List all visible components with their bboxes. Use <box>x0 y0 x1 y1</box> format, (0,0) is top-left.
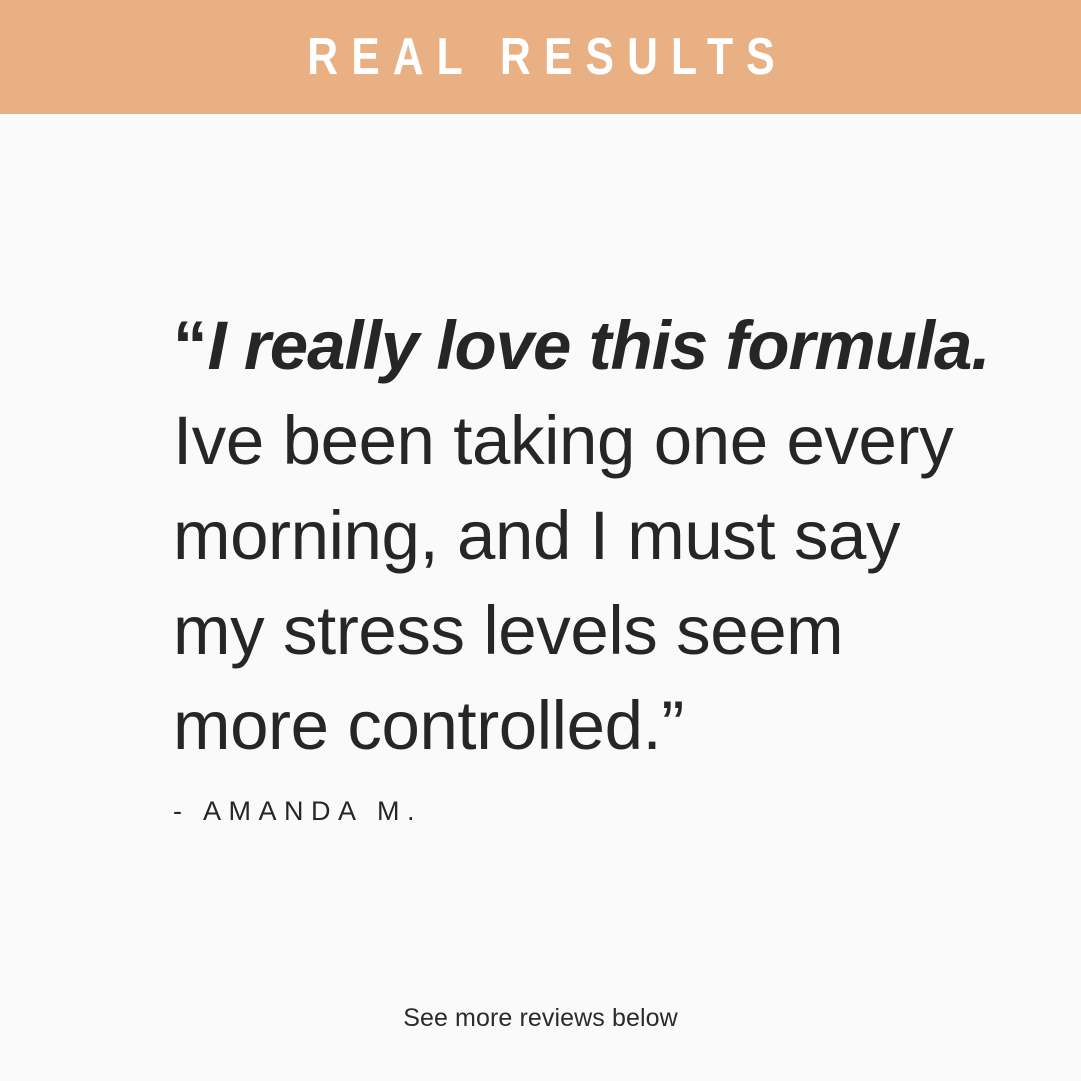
open-quote-mark: “ <box>173 298 208 393</box>
quote-line-text: Ive been taking one every <box>173 402 953 479</box>
quote-line: more controlled.” <box>173 678 1013 773</box>
quote-line-text: more controlled. <box>173 687 661 764</box>
quote-line-text: my stress levels seem <box>173 592 843 669</box>
testimonial-card: REAL RESULTS “I really love this formula… <box>0 0 1081 1081</box>
testimonial-quote: “I really love this formula. Ive been ta… <box>173 298 1013 773</box>
quote-line: “I really love this formula. <box>173 298 1013 393</box>
header-banner: REAL RESULTS <box>0 0 1081 114</box>
quote-line: morning, and I must say <box>173 488 1013 583</box>
quote-line: my stress levels seem <box>173 583 1013 678</box>
close-quote-mark: ” <box>661 687 684 764</box>
quote-line-text: I really love this formula. <box>208 307 990 384</box>
footer-note: See more reviews below <box>0 1003 1081 1033</box>
quote-line-text: morning, and I must say <box>173 497 900 574</box>
quote-line: Ive been taking one every <box>173 393 1013 488</box>
header-title: REAL RESULTS <box>294 31 788 83</box>
testimonial-attribution: - AMANDA M. <box>173 798 422 825</box>
